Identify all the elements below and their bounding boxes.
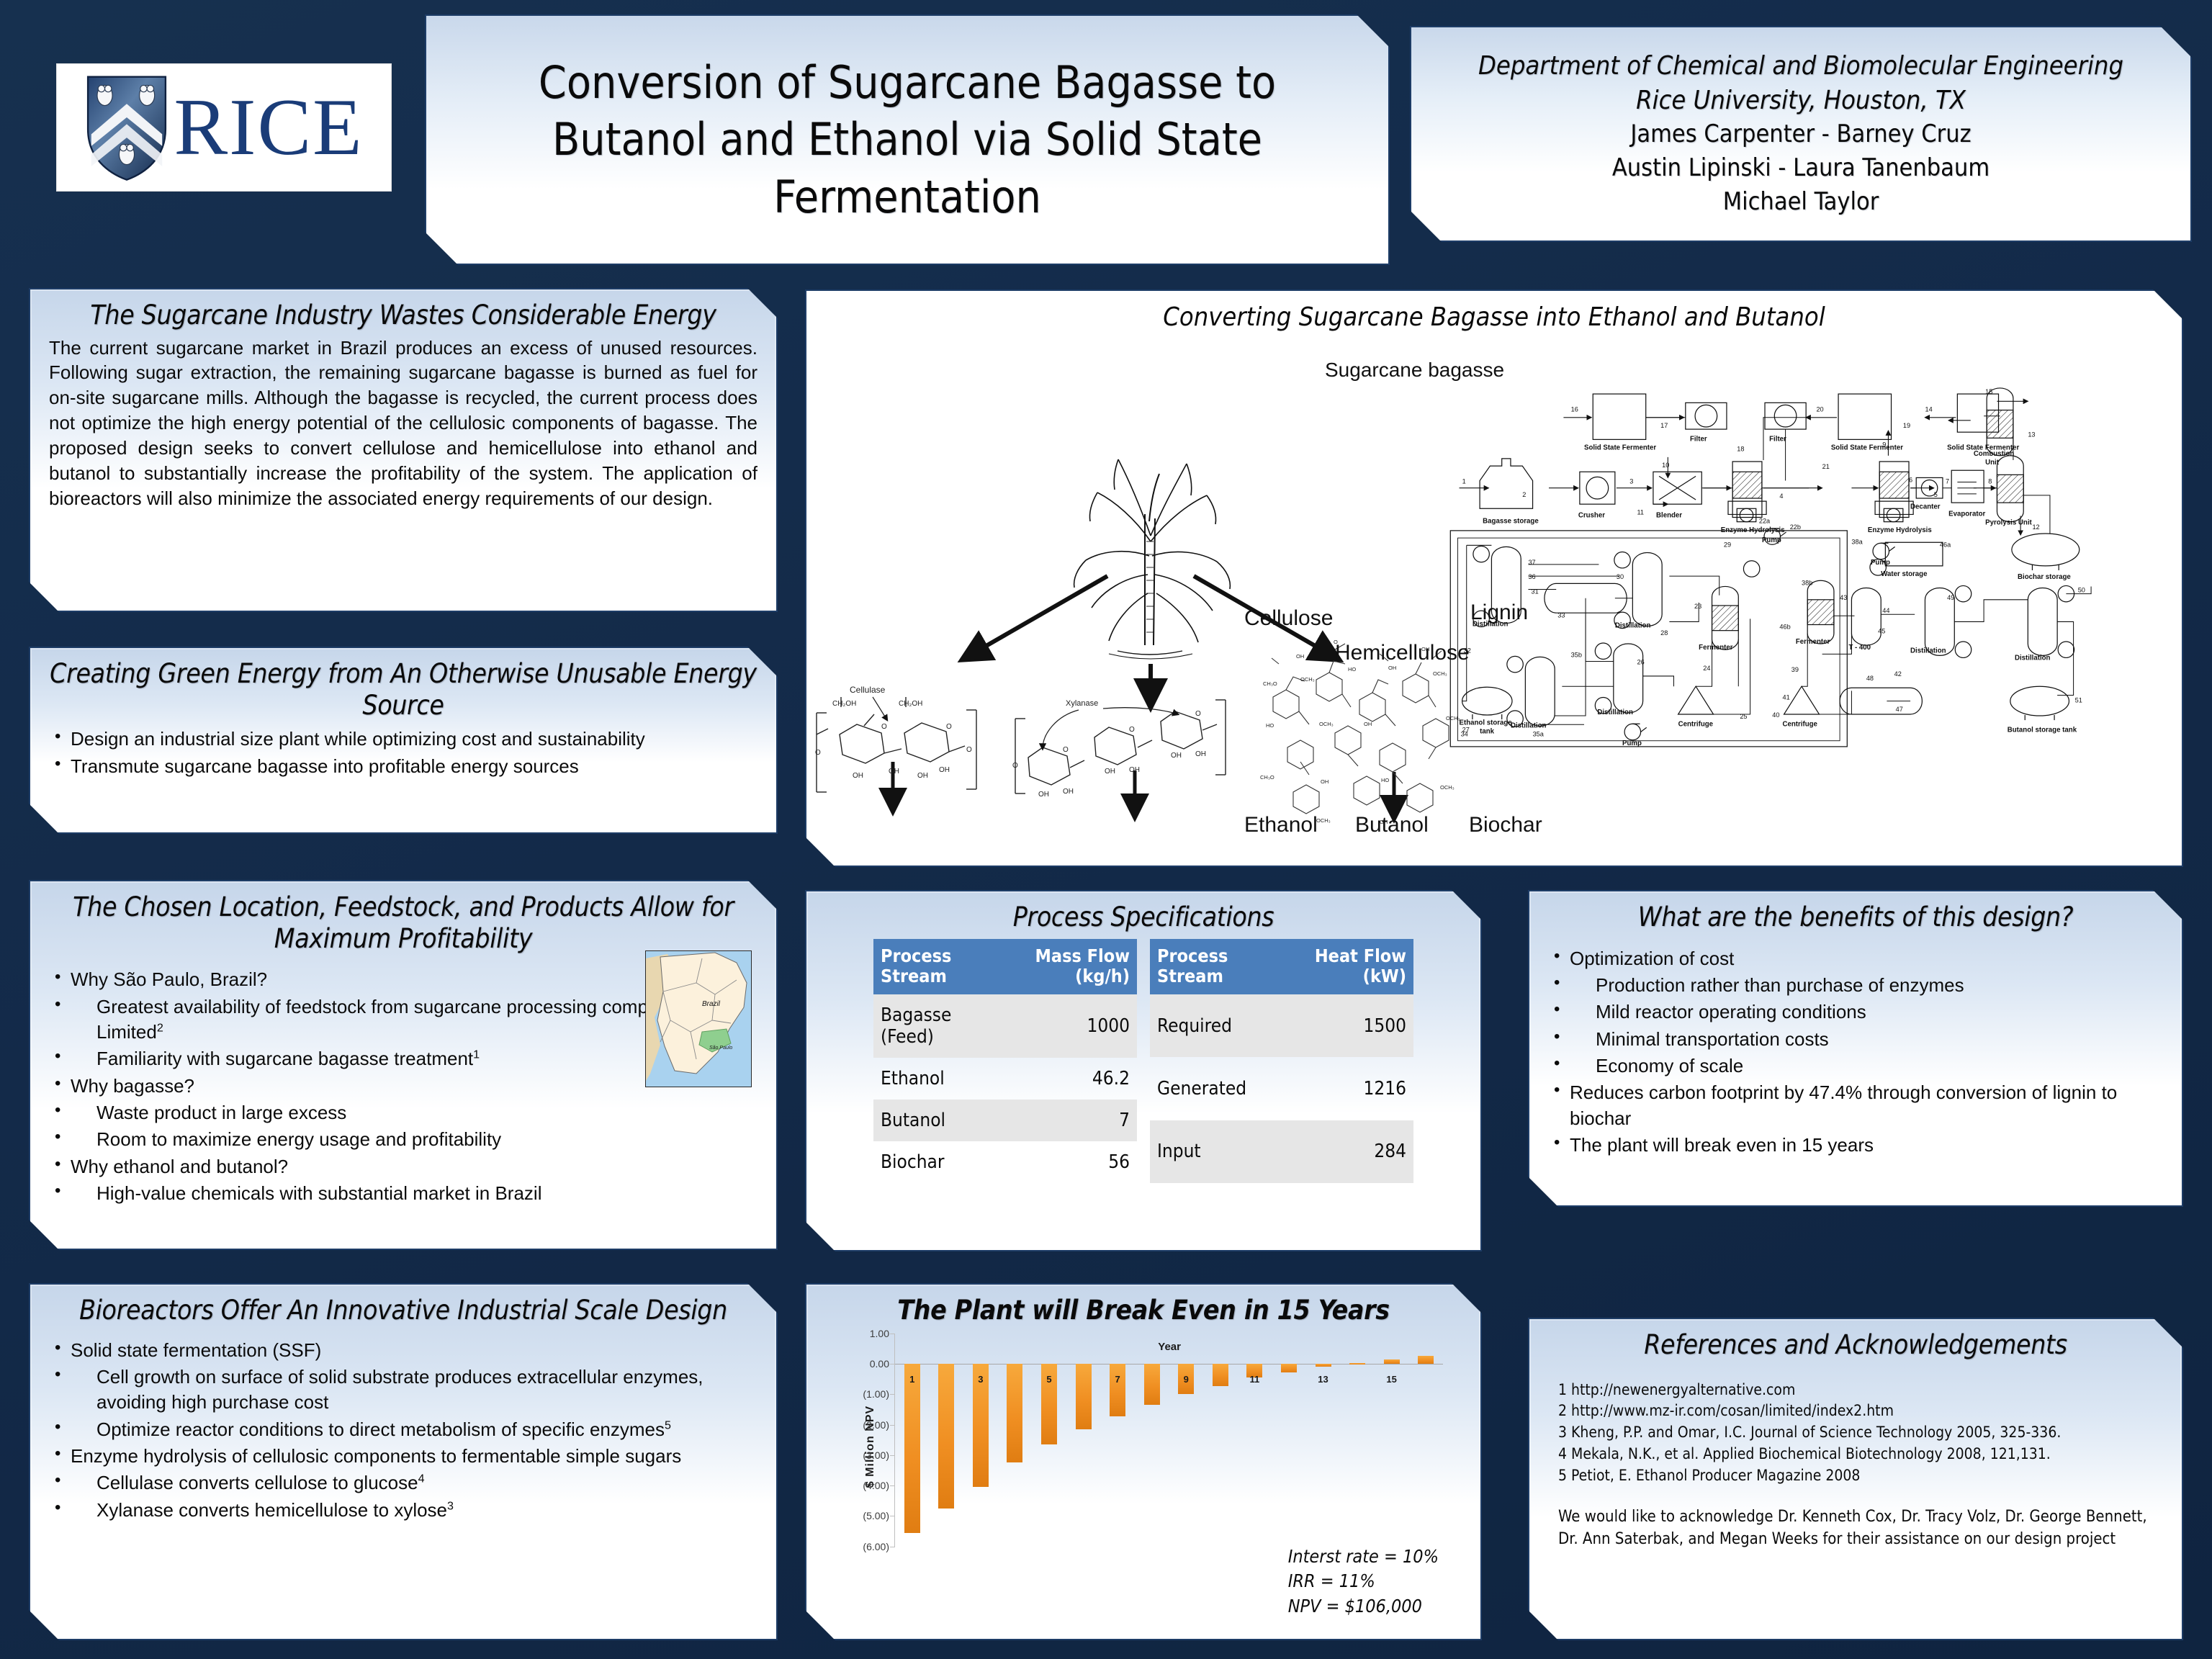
svg-text:HO: HO bbox=[1266, 722, 1274, 729]
svg-text:46b: 46b bbox=[1779, 624, 1790, 631]
svg-text:Bagasse storage: Bagasse storage bbox=[1483, 518, 1539, 526]
list-item: Xylanase converts hemicellulose to xylos… bbox=[49, 1498, 757, 1523]
svg-text:OCH₃: OCH₃ bbox=[1319, 721, 1334, 727]
svg-text:38a: 38a bbox=[1851, 538, 1863, 545]
list-item: Room to maximize energy usage and profit… bbox=[49, 1127, 757, 1152]
list-item: Design an industrial size plant while op… bbox=[49, 727, 757, 752]
cell-stream: Ethanol bbox=[873, 1058, 1004, 1100]
svg-text:23: 23 bbox=[1694, 603, 1701, 610]
list-item: Minimal transportation costs bbox=[1548, 1027, 2163, 1052]
panel-title-benefits: What are the benefits of this design? bbox=[1548, 902, 2163, 933]
svg-text:6: 6 bbox=[1909, 477, 1912, 484]
panel-conversion-diagram: Converting Sugarcane Bagasse into Ethano… bbox=[805, 289, 2183, 867]
list-item: Optimization of cost bbox=[1548, 946, 2163, 971]
svg-text:20: 20 bbox=[1816, 406, 1823, 413]
chart-x-tick-label: 3 bbox=[978, 1374, 983, 1385]
waste-body-text: The current sugarcane market in Brazil p… bbox=[49, 336, 757, 511]
svg-text:44: 44 bbox=[1882, 607, 1889, 614]
table-row: Input284 bbox=[1150, 1120, 1413, 1183]
svg-text:Filter: Filter bbox=[1690, 435, 1707, 443]
svg-text:HO: HO bbox=[1348, 666, 1356, 673]
svg-text:12: 12 bbox=[2032, 523, 2039, 531]
mass-flow-table: Process Stream Mass Flow (kg/h) Bagasse … bbox=[873, 939, 1137, 1184]
col-header-heat-flow: Heat Flow (kW) bbox=[1290, 939, 1413, 995]
svg-text:Distillation: Distillation bbox=[1615, 622, 1651, 630]
svg-text:O: O bbox=[1012, 762, 1018, 770]
chart-y-tickmark bbox=[890, 1334, 895, 1334]
map-state-label: São Paulo bbox=[709, 1046, 732, 1051]
svg-text:Xylanase: Xylanase bbox=[1066, 699, 1098, 708]
svg-text:Pyrolysis Unit: Pyrolysis Unit bbox=[1985, 519, 2032, 527]
table-row: Generated1216 bbox=[1150, 1057, 1413, 1120]
chart-bar bbox=[1144, 1364, 1160, 1405]
svg-text:Combustion: Combustion bbox=[1974, 450, 2015, 458]
panel-title-waste: The Sugarcane Industry Wastes Considerab… bbox=[49, 300, 757, 331]
cell-stream: Bagasse (Feed) bbox=[873, 994, 1004, 1058]
svg-text:28: 28 bbox=[1660, 629, 1668, 637]
svg-text:51: 51 bbox=[2075, 697, 2082, 704]
svg-text:1: 1 bbox=[1462, 478, 1466, 485]
svg-text:Enzyme Hydrolysis: Enzyme Hydrolysis bbox=[1721, 526, 1785, 534]
svg-text:37: 37 bbox=[1528, 559, 1535, 566]
svg-text:OH: OH bbox=[1063, 788, 1074, 796]
list-item: Waste product in large excess bbox=[49, 1100, 757, 1125]
svg-text:34: 34 bbox=[1461, 731, 1468, 738]
poster-title-block: Conversion of Sugarcane Bagasse to Butan… bbox=[425, 14, 1390, 265]
svg-text:9: 9 bbox=[1882, 441, 1886, 449]
list-item: Solid state fermentation (SSF) bbox=[49, 1338, 757, 1363]
cell-value: 1000 bbox=[1004, 994, 1137, 1058]
list-item: Enzyme hydrolysis of cellulosic componen… bbox=[49, 1444, 757, 1469]
authors-block: Department of Chemical and Biomolecular … bbox=[1410, 26, 2192, 242]
svg-text:Butanol storage tank: Butanol storage tank bbox=[2008, 726, 2077, 734]
panel-green-energy: Creating Green Energy from An Otherwise … bbox=[29, 647, 778, 834]
svg-text:OH: OH bbox=[1364, 721, 1372, 727]
panel-bioreactors: Bioreactors Offer An Innovative Industri… bbox=[29, 1283, 778, 1640]
reference-item: 3 Kheng, P.P. and Omar, I.C. Journal of … bbox=[1558, 1422, 2153, 1444]
cell-stream: Biochar bbox=[873, 1141, 1004, 1183]
svg-text:CH₃O: CH₃O bbox=[1263, 680, 1277, 687]
chart-plot-area: 1.000.00(1.00)(2.00)(3.00)(4.00)(5.00)(6… bbox=[894, 1334, 1443, 1547]
chart-x-tick-label: 7 bbox=[1115, 1374, 1120, 1385]
chart-bar bbox=[1316, 1364, 1331, 1367]
svg-text:10: 10 bbox=[1662, 462, 1669, 469]
table-row: Bagasse (Feed)1000 bbox=[873, 994, 1137, 1058]
list-item: Mild reactor operating conditions bbox=[1548, 999, 2163, 1025]
annotation-interest-rate: Interst rate = 10% bbox=[1288, 1545, 1439, 1570]
cell-stream: Butanol bbox=[873, 1100, 1004, 1141]
cell-value: 56 bbox=[1004, 1141, 1137, 1183]
svg-text:11: 11 bbox=[1637, 508, 1644, 516]
svg-text:CH₂OH: CH₂OH bbox=[832, 700, 856, 708]
svg-text:Fermenter: Fermenter bbox=[1796, 638, 1830, 646]
chart-x-tick-label: 15 bbox=[1386, 1374, 1396, 1385]
svg-text:45: 45 bbox=[1878, 628, 1885, 635]
svg-text:OCH₃: OCH₃ bbox=[1440, 784, 1455, 791]
svg-text:tank: tank bbox=[1480, 728, 1495, 736]
svg-text:19: 19 bbox=[1903, 422, 1910, 429]
svg-text:Distillation: Distillation bbox=[1597, 709, 1633, 716]
department-label: Department of Chemical and Biomolecular … bbox=[1478, 49, 2123, 84]
svg-text:OH: OH bbox=[1171, 752, 1182, 760]
svg-text:35a: 35a bbox=[1533, 731, 1545, 738]
list-item: Production rather than purchase of enzym… bbox=[1548, 973, 2163, 998]
svg-text:OH: OH bbox=[1388, 665, 1396, 671]
chart-bar bbox=[904, 1364, 920, 1533]
chart-x-tick-label: 5 bbox=[1046, 1374, 1051, 1385]
cell-value: 46.2 bbox=[1004, 1058, 1137, 1100]
panel-sugarcane-industry: The Sugarcane Industry Wastes Considerab… bbox=[29, 288, 778, 612]
panel-break-even-chart: The Plant will Break Even in 15 Years $ … bbox=[805, 1283, 1482, 1640]
label-cellulose: Cellulose bbox=[1244, 606, 1333, 631]
svg-text:CH₂OH: CH₂OH bbox=[899, 700, 922, 708]
svg-text:38b: 38b bbox=[1802, 579, 1812, 586]
svg-text:3: 3 bbox=[1629, 478, 1633, 485]
chart-y-tickmark bbox=[890, 1516, 895, 1516]
svg-text:43: 43 bbox=[1840, 594, 1847, 601]
list-item: Why ethanol and butanol? bbox=[49, 1154, 757, 1179]
svg-text:33: 33 bbox=[1557, 611, 1565, 619]
svg-text:16: 16 bbox=[1571, 406, 1578, 413]
reference-item: 4 Mekala, N.K., et al. Applied Biochemic… bbox=[1558, 1444, 2153, 1465]
svg-text:OH: OH bbox=[889, 768, 899, 775]
panel-title-green: Creating Green Energy from An Otherwise … bbox=[49, 658, 757, 721]
svg-text:Fermenter: Fermenter bbox=[1699, 644, 1733, 652]
svg-text:42: 42 bbox=[1894, 670, 1902, 678]
svg-text:OH: OH bbox=[853, 772, 863, 780]
svg-text:Solid State Fermenter: Solid State Fermenter bbox=[1584, 444, 1656, 452]
svg-text:Evaporator: Evaporator bbox=[1948, 510, 1985, 518]
svg-text:O: O bbox=[1063, 746, 1069, 754]
reference-item: 5 Petiot, E. Ethanol Producer Magazine 2… bbox=[1558, 1465, 2153, 1487]
col-header-process-stream-heat: Process Stream bbox=[1150, 939, 1290, 995]
bioreactor-bullet-list: Solid state fermentation (SSF)Cell growt… bbox=[49, 1338, 757, 1524]
chart-bar bbox=[1418, 1356, 1434, 1364]
svg-text:17: 17 bbox=[1660, 422, 1668, 429]
chart-bar bbox=[1281, 1364, 1297, 1372]
npv-bar-chart: $ Million NPV 1.000.00(1.00)(2.00)(3.00)… bbox=[825, 1328, 1462, 1565]
rice-wordmark: RICE bbox=[174, 87, 363, 168]
chart-bar bbox=[1349, 1363, 1365, 1364]
panel-process-specifications: Process Specifications Process Stream Ma… bbox=[805, 890, 1482, 1251]
page-title: Conversion of Sugarcane Bagasse to Butan… bbox=[426, 54, 1388, 225]
svg-text:35b: 35b bbox=[1571, 651, 1582, 658]
svg-text:24: 24 bbox=[1703, 665, 1710, 672]
table-row: Biochar56 bbox=[873, 1141, 1137, 1183]
svg-text:32: 32 bbox=[1464, 647, 1471, 654]
svg-text:Decanter: Decanter bbox=[1910, 503, 1941, 511]
panel-title-references: References and Acknowledgements bbox=[1558, 1329, 2153, 1361]
svg-text:Filter: Filter bbox=[1769, 435, 1786, 443]
chart-bar bbox=[938, 1364, 954, 1509]
list-item: Cellulase converts cellulose to glucose4 bbox=[49, 1470, 757, 1496]
svg-text:Pump: Pump bbox=[1622, 739, 1642, 747]
svg-text:50: 50 bbox=[2078, 587, 2085, 594]
svg-text:14: 14 bbox=[1925, 406, 1932, 413]
cell-stream: Input bbox=[1150, 1120, 1290, 1183]
heat-flow-table: Process Stream Heat Flow (kW) Required15… bbox=[1150, 939, 1413, 1184]
svg-text:OCH₃: OCH₃ bbox=[1316, 817, 1331, 824]
benefits-bullet-list: Optimization of costProduction rather th… bbox=[1548, 946, 2163, 1159]
svg-text:39: 39 bbox=[1791, 666, 1799, 673]
chart-x-tick-label: 9 bbox=[1184, 1374, 1189, 1385]
list-item: Optimize reactor conditions to direct me… bbox=[49, 1417, 757, 1442]
reference-item: 1 http://newenergyalternative.com bbox=[1558, 1380, 2153, 1401]
svg-text:4: 4 bbox=[1779, 493, 1783, 500]
cell-stream: Required bbox=[1150, 994, 1290, 1057]
panel-title-bioreactors: Bioreactors Offer An Innovative Industri… bbox=[49, 1295, 757, 1326]
svg-text:OH: OH bbox=[1296, 653, 1304, 660]
svg-text:OH: OH bbox=[917, 772, 928, 780]
table-row: Ethanol46.2 bbox=[873, 1058, 1137, 1100]
svg-text:48: 48 bbox=[1866, 675, 1874, 682]
brazil-map-inset: Brazil São Paulo bbox=[645, 950, 752, 1087]
svg-text:OH: OH bbox=[1195, 750, 1206, 758]
chart-bar bbox=[1007, 1364, 1022, 1462]
chart-x-tick-label: 11 bbox=[1250, 1374, 1260, 1385]
green-bullet-list: Design an industrial size plant while op… bbox=[49, 727, 757, 779]
svg-text:O: O bbox=[1195, 710, 1201, 718]
chart-bar bbox=[1213, 1364, 1228, 1386]
svg-text:OH: OH bbox=[1038, 791, 1049, 799]
chart-annotations: Interst rate = 10% IRR = 11% NPV = $106,… bbox=[1288, 1545, 1439, 1619]
acknowledgement-text: We would like to acknowledge Dr. Kenneth… bbox=[1558, 1506, 2153, 1550]
svg-text:Centrifuge: Centrifuge bbox=[1678, 720, 1714, 728]
col-header-mass-flow: Mass Flow (kg/h) bbox=[1004, 939, 1137, 995]
cell-value: 7 bbox=[1004, 1100, 1137, 1141]
chart-bar bbox=[1076, 1364, 1092, 1429]
author-line-1: James Carpenter - Barney Cruz bbox=[1630, 117, 1971, 151]
col-header-process-stream-mass: Process Stream bbox=[873, 939, 1004, 995]
table-row: Butanol7 bbox=[873, 1100, 1137, 1141]
svg-text:41: 41 bbox=[1783, 694, 1790, 701]
svg-text:26: 26 bbox=[1637, 659, 1644, 666]
svg-text:O: O bbox=[815, 749, 821, 757]
chart-y-tickmark bbox=[890, 1364, 895, 1364]
panel-benefits: What are the benefits of this design? Op… bbox=[1528, 890, 2183, 1207]
poster-canvas: RICE Conversion of Sugarcane Bagasse to … bbox=[0, 0, 2212, 1659]
svg-text:49: 49 bbox=[1947, 594, 1954, 601]
list-item: Transmute sugarcane bagasse into profita… bbox=[49, 754, 757, 779]
svg-text:O: O bbox=[966, 746, 972, 754]
svg-text:13: 13 bbox=[2028, 431, 2035, 438]
svg-text:HO: HO bbox=[1381, 777, 1389, 783]
chart-y-tickmark bbox=[890, 1425, 895, 1426]
rice-logo: RICE bbox=[56, 63, 392, 192]
chart-bar bbox=[1384, 1359, 1400, 1364]
svg-text:31: 31 bbox=[1532, 588, 1539, 595]
svg-text:29: 29 bbox=[1724, 541, 1731, 548]
svg-text:OH: OH bbox=[1129, 766, 1140, 774]
chart-y-tickmark bbox=[890, 1485, 895, 1486]
svg-text:Pump: Pump bbox=[1762, 536, 1781, 544]
cell-value: 1500 bbox=[1290, 994, 1413, 1057]
svg-text:40: 40 bbox=[1772, 711, 1779, 719]
svg-text:O: O bbox=[881, 723, 887, 731]
svg-text:30: 30 bbox=[1617, 573, 1624, 580]
chart-bar bbox=[1110, 1364, 1125, 1416]
chart-y-tickmark bbox=[890, 1455, 895, 1456]
chart-x-axis-label: Year bbox=[1158, 1341, 1181, 1353]
chart-y-axis-label: $ Million NPV bbox=[864, 1405, 877, 1487]
cell-value: 284 bbox=[1290, 1120, 1413, 1183]
svg-text:Blender: Blender bbox=[1656, 512, 1682, 520]
svg-text:8: 8 bbox=[1988, 478, 1992, 485]
svg-text:Distillation: Distillation bbox=[1910, 647, 1946, 655]
rice-shield-icon bbox=[84, 73, 169, 181]
svg-text:Pump: Pump bbox=[1871, 559, 1890, 567]
chart-x-tick-label: 1 bbox=[909, 1374, 914, 1385]
svg-text:5: 5 bbox=[1934, 491, 1938, 498]
label-ethanol: Ethanol bbox=[1244, 813, 1318, 837]
svg-text:O: O bbox=[1129, 726, 1135, 734]
svg-text:Unit: Unit bbox=[1985, 459, 2000, 467]
panel-location-feedstock: The Chosen Location, Feedstock, and Prod… bbox=[29, 880, 778, 1250]
svg-text:18: 18 bbox=[1737, 446, 1744, 453]
process-flow-diagram: Bagasse storage Crusher Blender Solid St… bbox=[1440, 369, 2160, 772]
svg-text:OH: OH bbox=[1321, 778, 1328, 785]
svg-text:Centrifuge: Centrifuge bbox=[1783, 720, 1818, 728]
author-line-3: Michael Taylor bbox=[1723, 185, 1879, 219]
annotation-npv: NPV = $106,000 bbox=[1288, 1594, 1439, 1619]
svg-text:2: 2 bbox=[1522, 491, 1526, 498]
conversion-tree-graphic: CH₂OHCH₂OH OHOH OHOH OO OO Cellulase bbox=[812, 325, 1518, 829]
list-item: The plant will break even in 15 years bbox=[1548, 1133, 2163, 1158]
svg-text:Distillation: Distillation bbox=[1473, 621, 1509, 629]
chart-x-tick-label: 13 bbox=[1318, 1374, 1328, 1385]
svg-text:21: 21 bbox=[1822, 463, 1830, 470]
svg-text:36: 36 bbox=[1528, 573, 1535, 580]
author-line-2: Austin Lipinski - Laura Tanenbaum bbox=[1612, 151, 1990, 185]
reference-item: 2 http://www.mz-ir.com/cosan/limited/ind… bbox=[1558, 1401, 2153, 1422]
reference-list: 1 http://newenergyalternative.com2 http:… bbox=[1558, 1380, 2153, 1487]
svg-text:OH: OH bbox=[1105, 768, 1115, 775]
svg-text:47: 47 bbox=[1896, 706, 1903, 713]
chart-y-tickmark bbox=[890, 1394, 895, 1395]
list-item: High-value chemicals with substantial ma… bbox=[49, 1181, 757, 1206]
table-row: Required1500 bbox=[1150, 994, 1413, 1057]
chart-y-tickmark bbox=[890, 1547, 895, 1547]
svg-text:22b: 22b bbox=[1790, 523, 1801, 531]
institution-label: Rice University, Houston, TX bbox=[1636, 84, 1966, 118]
svg-text:Cellulase: Cellulase bbox=[850, 685, 886, 695]
panel-references: References and Acknowledgements 1 http:/… bbox=[1528, 1318, 2183, 1640]
svg-text:Enzyme Hydrolysis: Enzyme Hydrolysis bbox=[1868, 526, 1932, 534]
panel-title-specs: Process Specifications bbox=[825, 902, 1462, 933]
svg-text:25: 25 bbox=[1740, 713, 1747, 720]
map-country-label: Brazil bbox=[702, 1000, 721, 1008]
svg-text:Distillation: Distillation bbox=[1511, 721, 1547, 729]
list-item: Reduces carbon footprint by 47.4% throug… bbox=[1548, 1080, 2163, 1131]
list-item: Economy of scale bbox=[1548, 1053, 2163, 1079]
svg-text:Distillation: Distillation bbox=[2015, 654, 2051, 662]
svg-text:OCH₃: OCH₃ bbox=[1300, 676, 1315, 683]
label-biochar: Biochar bbox=[1469, 813, 1542, 837]
svg-text:Biochar storage: Biochar storage bbox=[2018, 573, 2071, 581]
label-butanol: Butanol bbox=[1355, 813, 1429, 837]
svg-text:Crusher: Crusher bbox=[1578, 512, 1605, 520]
svg-text:CH₃O: CH₃O bbox=[1260, 774, 1274, 781]
svg-text:OH: OH bbox=[939, 766, 950, 774]
annotation-irr: IRR = 11% bbox=[1288, 1569, 1439, 1594]
svg-text:15: 15 bbox=[1985, 388, 1992, 395]
cell-stream: Generated bbox=[1150, 1057, 1290, 1120]
list-item: Cell growth on surface of solid substrat… bbox=[49, 1364, 757, 1416]
chart-title: The Plant will Break Even in 15 Years bbox=[825, 1295, 1462, 1326]
panel-title-location: The Chosen Location, Feedstock, and Prod… bbox=[49, 891, 757, 954]
svg-text:22a: 22a bbox=[1759, 518, 1771, 525]
svg-text:7: 7 bbox=[1946, 478, 1949, 485]
svg-text:T - 400: T - 400 bbox=[1848, 644, 1871, 652]
svg-text:O: O bbox=[946, 723, 952, 731]
svg-text:46a: 46a bbox=[1940, 541, 1951, 548]
svg-text:Solid State Fermenter: Solid State Fermenter bbox=[1831, 444, 1903, 452]
svg-text:Water storage: Water storage bbox=[1881, 570, 1928, 578]
cell-value: 1216 bbox=[1290, 1057, 1413, 1120]
